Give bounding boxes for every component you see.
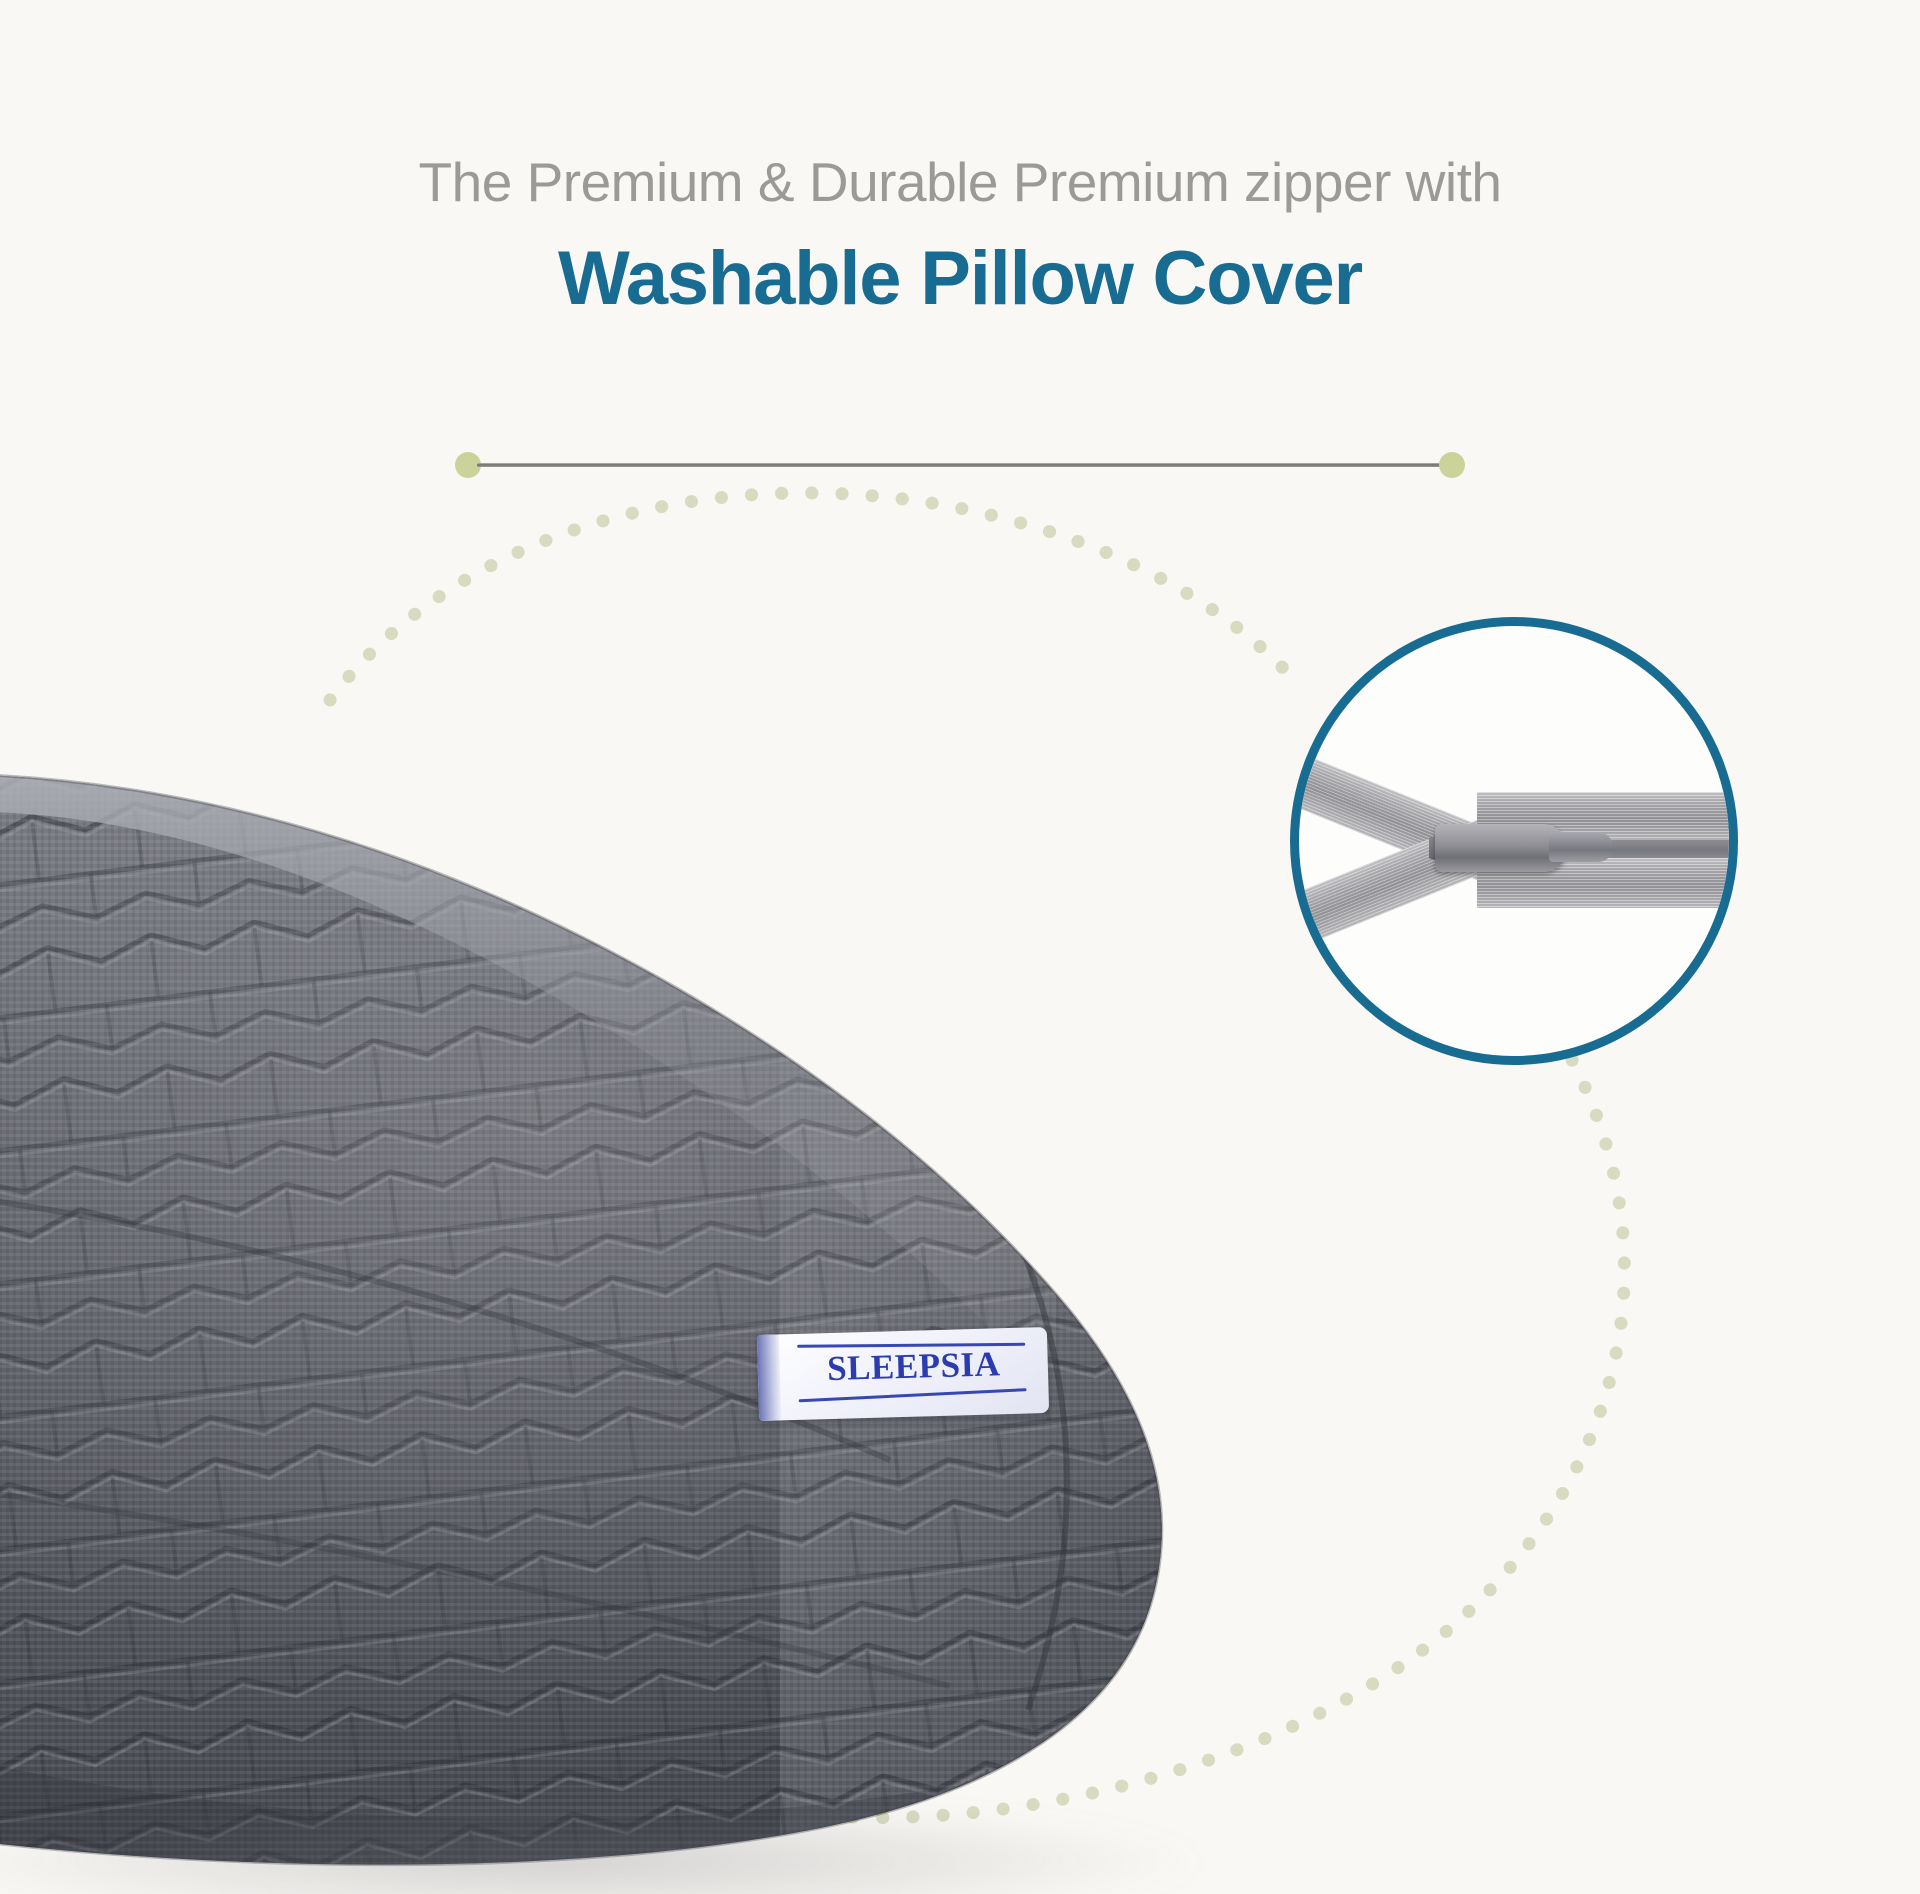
- divider: [455, 452, 1465, 478]
- zipper-image: [1299, 626, 1729, 1056]
- promo-image-canvas: The Premium & Durable Premium zipper wit…: [0, 0, 1920, 1894]
- zipper-callout-ring: [1290, 617, 1738, 1065]
- pillow-body: [0, 700, 1440, 1894]
- brand-tag-fold: [757, 1334, 781, 1421]
- divider-dot-right-icon: [1439, 452, 1465, 478]
- brand-tag: SLEEPSIA: [757, 1327, 1049, 1421]
- zipper-slider: [1435, 824, 1567, 872]
- divider-line: [477, 463, 1443, 467]
- subheadline: The Premium & Durable Premium zipper wit…: [0, 150, 1920, 215]
- upper-connector-arc: [330, 493, 1300, 700]
- pillow-illustration: [0, 700, 1440, 1894]
- pillow-product-image: [0, 700, 1440, 1894]
- heading-block: The Premium & Durable Premium zipper wit…: [0, 150, 1920, 320]
- pillow-drop-shadow: [0, 1802, 1200, 1894]
- page-title: Washable Pillow Cover: [0, 237, 1920, 321]
- zipper-callout: [1290, 617, 1738, 1065]
- brand-tag-label: SLEEPSIA: [795, 1345, 1032, 1387]
- zipper-pull-tab: [1549, 832, 1613, 862]
